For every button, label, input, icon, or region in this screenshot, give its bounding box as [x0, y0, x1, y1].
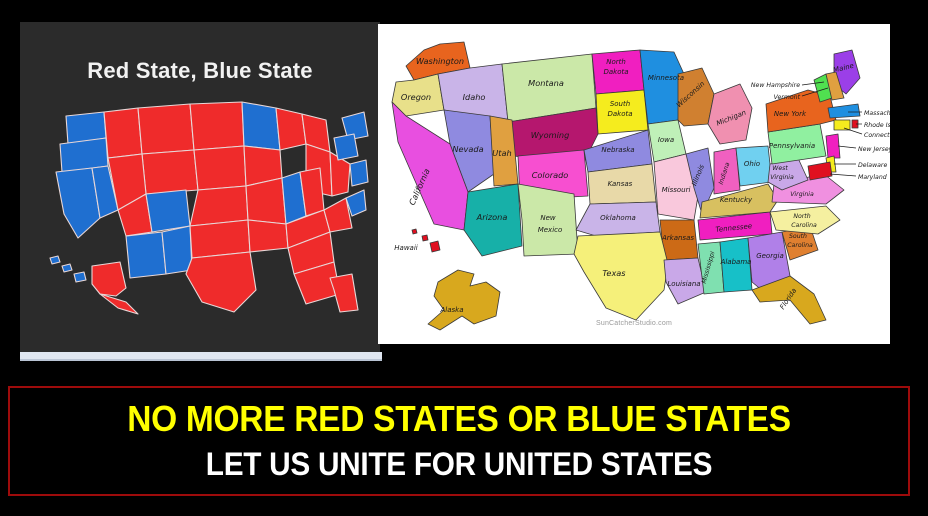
svg-text:Carolina: Carolina: [787, 242, 813, 249]
svg-text:North: North: [793, 212, 810, 220]
svg-text:Missouri: Missouri: [662, 186, 691, 194]
unity-message-banner: NO MORE RED STATES OR BLUE STATES LET US…: [8, 386, 910, 496]
svg-text:New: New: [540, 214, 556, 222]
svg-text:Pennsylvania: Pennsylvania: [769, 142, 815, 150]
electoral-map-title: Red State, Blue State: [20, 58, 380, 84]
svg-text:Delaware: Delaware: [858, 162, 887, 169]
svg-text:Dakota: Dakota: [603, 68, 628, 76]
svg-text:Louisiana: Louisiana: [667, 280, 700, 288]
svg-text:Virginia: Virginia: [770, 174, 794, 181]
svg-text:Carolina: Carolina: [791, 222, 817, 229]
svg-text:Colorado: Colorado: [532, 170, 569, 180]
svg-text:Massachusetts: Massachusetts: [864, 109, 890, 117]
svg-text:Hawaii: Hawaii: [394, 244, 418, 252]
svg-text:Georgia: Georgia: [756, 252, 784, 260]
electoral-map-panel: Red State, Blue State: [20, 22, 380, 352]
svg-text:New Hampshire: New Hampshire: [751, 82, 800, 89]
svg-text:Idaho: Idaho: [463, 92, 486, 102]
svg-text:Kentucky: Kentucky: [720, 196, 753, 204]
svg-text:Arizona: Arizona: [476, 212, 508, 222]
svg-text:Oregon: Oregon: [401, 92, 431, 102]
svg-text:Alaska: Alaska: [439, 306, 463, 314]
labelled-state-map-panel: Washington Oregon Idaho Montana North Da…: [378, 24, 890, 344]
panel-bottom-strip: [20, 352, 382, 361]
labelled-state-map-image: Washington Oregon Idaho Montana North Da…: [378, 24, 890, 344]
svg-text:Nebraska: Nebraska: [601, 146, 634, 154]
banner-subheadline: LET US UNITE FOR UNITED STATES: [41, 446, 876, 483]
svg-text:Utah: Utah: [492, 148, 511, 158]
svg-text:South: South: [789, 232, 807, 240]
svg-text:New Jersey: New Jersey: [858, 146, 890, 153]
svg-text:South: South: [610, 100, 630, 108]
svg-text:Kansas: Kansas: [608, 180, 633, 188]
svg-text:Connecticut: Connecticut: [864, 131, 890, 139]
map-watermark: SunCatcherStudio.com: [378, 320, 890, 327]
svg-text:Vermont: Vermont: [774, 93, 801, 101]
svg-text:West: West: [772, 164, 788, 172]
electoral-map-image: [34, 98, 370, 326]
svg-text:Oklahoma: Oklahoma: [600, 214, 636, 222]
svg-text:Virginia: Virginia: [790, 191, 814, 198]
svg-text:Mexico: Mexico: [538, 226, 563, 234]
svg-text:Rhode Island: Rhode Island: [864, 122, 890, 129]
svg-text:Arkansas: Arkansas: [661, 234, 694, 242]
svg-text:Maryland: Maryland: [858, 174, 887, 181]
svg-text:New York: New York: [774, 110, 807, 118]
svg-text:North: North: [606, 58, 626, 66]
poster-canvas: Red State, Blue State: [0, 0, 928, 516]
svg-text:Nevada: Nevada: [452, 144, 483, 154]
svg-text:Iowa: Iowa: [658, 136, 674, 144]
svg-text:Dakota: Dakota: [607, 110, 632, 118]
banner-headline: NO MORE RED STATES OR BLUE STATES: [41, 398, 876, 440]
svg-text:Wyoming: Wyoming: [531, 130, 570, 140]
svg-text:Ohio: Ohio: [744, 160, 760, 168]
svg-text:Montana: Montana: [528, 78, 564, 88]
svg-text:Alabama: Alabama: [720, 258, 752, 266]
svg-text:Washington: Washington: [416, 56, 464, 66]
svg-text:Texas: Texas: [602, 268, 626, 278]
svg-text:Minnesota: Minnesota: [648, 74, 684, 82]
